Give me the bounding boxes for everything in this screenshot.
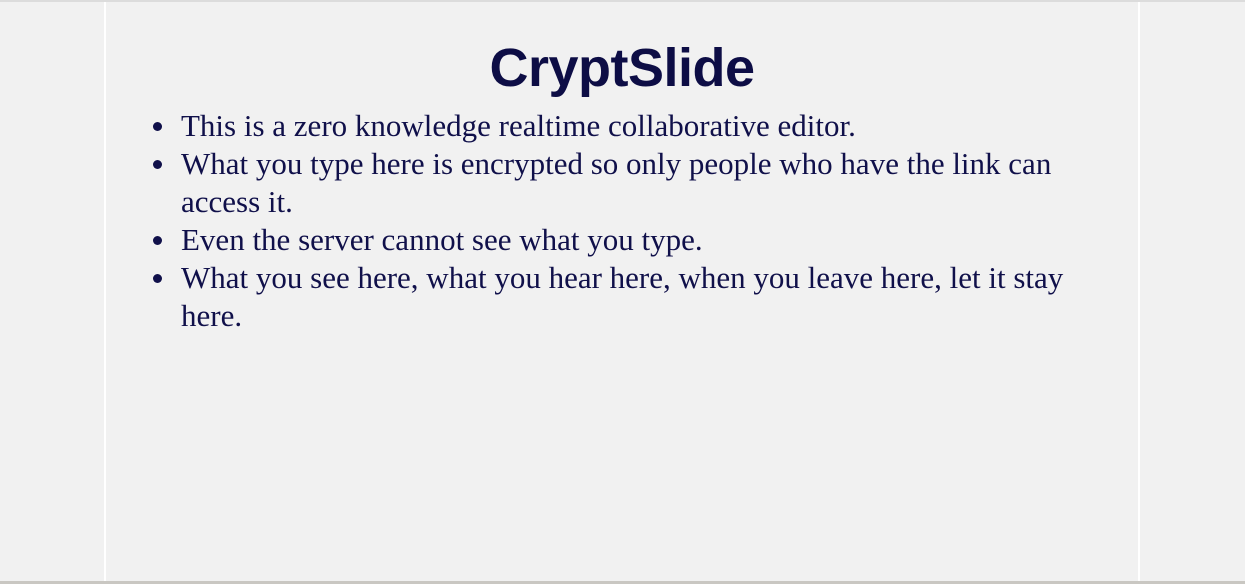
slide-title: CryptSlide — [106, 2, 1138, 97]
slide-bullet-text: What you type here is encrypted so only … — [181, 145, 1078, 221]
bullet-circle-icon — [153, 274, 162, 283]
slide-bullet-text: This is a zero knowledge realtime collab… — [181, 107, 1078, 145]
slide-viewer-frame: CryptSlide This is a zero knowledge real… — [0, 0, 1245, 584]
slide-gutter-left — [0, 2, 104, 581]
slide-bullet-item: What you type here is encrypted so only … — [146, 145, 1078, 221]
bullet-circle-icon — [153, 160, 162, 169]
slide-content: CryptSlide This is a zero knowledge real… — [106, 2, 1138, 335]
slide-bullet-item: What you see here, what you hear here, w… — [146, 259, 1078, 335]
slide-gutter-right — [1140, 2, 1245, 581]
slide-bullet-item: Even the server cannot see what you type… — [146, 221, 1078, 259]
slide-bullet-text: What you see here, what you hear here, w… — [181, 259, 1078, 335]
slide-bullet-text: Even the server cannot see what you type… — [181, 221, 1078, 259]
slide-bullet-item: This is a zero knowledge realtime collab… — [146, 107, 1078, 145]
slide-canvas[interactable]: CryptSlide This is a zero knowledge real… — [104, 2, 1140, 581]
slide-bullet-list: This is a zero knowledge realtime collab… — [106, 107, 1138, 335]
bullet-circle-icon — [153, 122, 162, 131]
bullet-circle-icon — [153, 236, 162, 245]
